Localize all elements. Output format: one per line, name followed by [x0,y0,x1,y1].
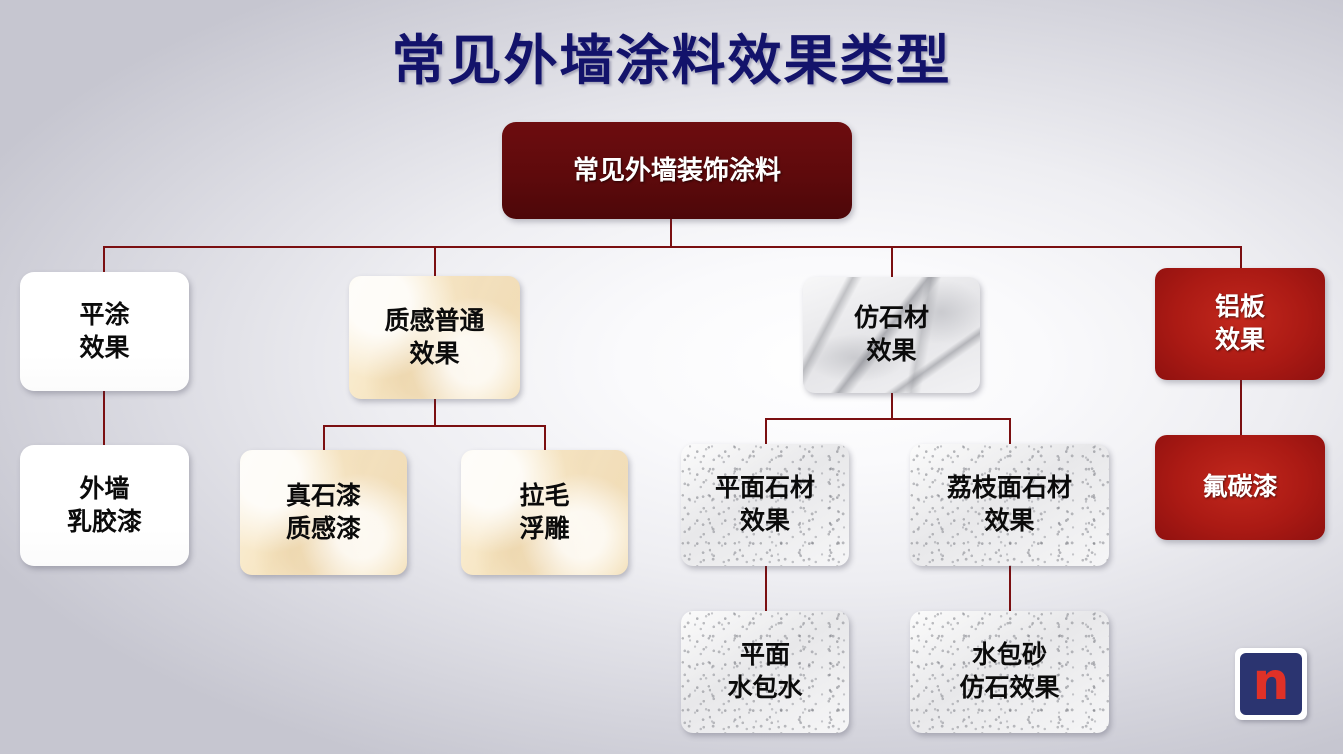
node-root-label: 常见外墙装饰涂料 [573,153,781,187]
node-label-line2: 效果 [79,332,129,365]
node-label-line2: 质感漆 [286,513,361,546]
connector-main-bus [103,246,1242,248]
connector-drop-flat-coat [103,246,105,274]
node-label-line2: 乳胶漆 [67,506,142,539]
node-label-line2: 效果 [984,505,1034,538]
node-exterior-emulsion-paint[interactable]: 外墙 乳胶漆 [20,445,189,566]
node-label-line1: 平面石材 [715,472,815,505]
node-relief-texture[interactable]: 拉毛 浮雕 [461,450,628,575]
slide-canvas: 常见外墙涂料效果类型 常见外墙装饰涂料 平涂 效果 外墙 乳胶漆 质感普通 效果 [0,0,1343,754]
connector-texture-bus [323,425,546,427]
connector-litchi-stone-to-child [1009,566,1011,612]
node-label-line1: 真石漆 [286,480,361,513]
node-label-line1: 铝板 [1215,291,1265,324]
node-label-line1: 质感普通 [384,305,484,338]
logo-letter-n-icon: n [1252,660,1289,704]
node-sand-in-water-stone[interactable]: 水包砂 仿石效果 [910,611,1109,733]
node-texture-normal-head[interactable]: 质感普通 效果 [349,276,520,399]
connector-flat-stone-to-child [765,566,767,612]
node-label-line1: 荔枝面石材 [947,472,1072,505]
node-label-line2: 效果 [409,338,459,371]
node-label-line2: 水包水 [727,672,802,705]
connector-texture-drop-right [544,425,546,451]
node-flat-stone-effect[interactable]: 平面石材 效果 [681,444,849,566]
node-label-line1: 平涂 [79,299,129,332]
connector-aluminium-to-child [1240,380,1242,436]
node-label-line1: 水包砂 [972,639,1047,672]
node-aluminium-panel-head[interactable]: 铝板 效果 [1155,268,1325,380]
node-stone-imitation-head[interactable]: 仿石材 效果 [803,277,980,393]
node-label-line2: 仿石效果 [959,672,1059,705]
logo-plate: n [1240,653,1302,715]
connector-stone-drop-right [1009,418,1011,446]
node-label-line2: 效果 [866,335,916,368]
node-label-line2: 效果 [1215,324,1265,357]
node-label-line1: 氟碳漆 [1202,471,1277,504]
node-label-line1: 仿石材 [854,302,929,335]
connector-flat-coat-to-child [103,390,105,446]
node-label-line2: 浮雕 [519,513,569,546]
node-fluorocarbon-paint[interactable]: 氟碳漆 [1155,435,1325,540]
node-root[interactable]: 常见外墙装饰涂料 [502,122,852,219]
connector-texture-drop-left [323,425,325,451]
node-real-stone-paint[interactable]: 真石漆 质感漆 [240,450,407,575]
page-title: 常见外墙涂料效果类型 [0,16,1343,95]
brand-logo: n [1235,648,1307,720]
connector-texture-stem [434,398,436,426]
node-label-line2: 效果 [740,505,790,538]
node-label-line1: 平面 [740,639,790,672]
node-flat-water-in-water[interactable]: 平面 水包水 [681,611,849,733]
connector-stone-bus [765,418,1011,420]
node-litchi-stone-effect[interactable]: 荔枝面石材 效果 [910,444,1109,566]
node-flat-coat-head[interactable]: 平涂 效果 [20,272,189,391]
connector-stone-drop-left [765,418,767,446]
connector-stone-stem [891,392,893,419]
node-label-line1: 拉毛 [519,480,569,513]
connector-drop-stone-imitation [891,246,893,277]
connector-root-stem [670,219,672,248]
connector-drop-texture-normal [434,246,436,277]
node-label-line1: 外墙 [79,473,129,506]
